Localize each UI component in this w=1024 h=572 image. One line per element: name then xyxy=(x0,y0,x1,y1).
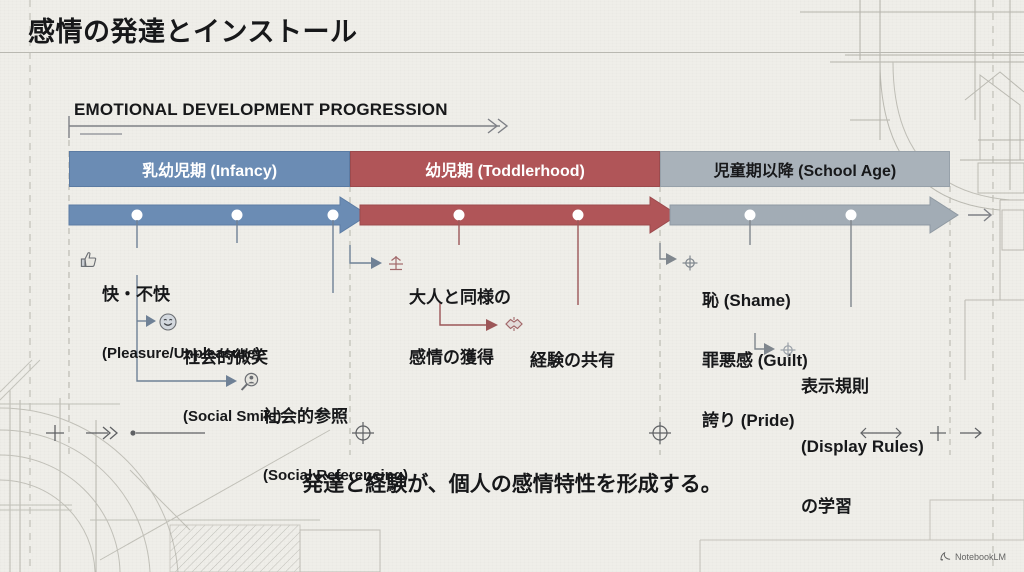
phase-header-toddlerhood[interactable]: 幼児期 (Toddlerhood) xyxy=(350,151,660,187)
crosshair-icon xyxy=(779,341,797,359)
annotation-shared-experience: 経験の共有 xyxy=(530,312,615,411)
slide-canvas: 感情の発達とインストール EMOTIONAL DEVELOPMENT PROGR… xyxy=(0,0,1024,572)
annotation-jp: 社会的微笑 xyxy=(183,348,281,369)
annotation-jp-line1: 大人と同様の xyxy=(409,288,511,309)
annotation-self-conscious-emotions: 恥 (Shame) 罪悪感 (Guilt) 誇り (Pride) xyxy=(702,252,808,470)
annotation-jp: 経験の共有 xyxy=(530,351,615,372)
annotation-line-1: 恥 (Shame) xyxy=(702,291,808,312)
handshake-icon xyxy=(503,314,525,334)
phase-label: 児童期以降 (School Age) xyxy=(714,157,897,181)
phase-label: 乳幼児期 (Infancy) xyxy=(142,157,277,181)
annotation-jp: 快・不快 xyxy=(102,285,260,306)
antenna-icon xyxy=(386,253,406,273)
annotation-line-3: の学習 xyxy=(801,497,924,518)
annotation-line-2: (Display Rules) xyxy=(801,437,924,458)
magnifier-person-icon xyxy=(239,371,261,393)
annotation-adult-like-emotions: 大人と同様の 感情の獲得 xyxy=(409,249,511,408)
annotation-display-rules: 表示規則 (Display Rules) の学習 xyxy=(801,338,924,556)
annotation-line-1: 表示規則 xyxy=(801,377,924,398)
thumbs-up-icon xyxy=(79,250,99,270)
annotation-jp: 社会的参照 xyxy=(263,407,408,428)
annotation-line-3: 誇り (Pride) xyxy=(702,411,808,432)
summary-statement: 発達と経験が、個人の感情特性を形成する。 xyxy=(0,468,1024,498)
title-divider xyxy=(0,52,1024,53)
page-title: 感情の発達とインストール xyxy=(28,10,357,49)
smiley-face-icon xyxy=(158,312,178,332)
watermark-label: NotebookLM xyxy=(955,552,1006,562)
phase-header-school-age[interactable]: 児童期以降 (School Age) xyxy=(660,151,950,187)
crosshair-icon xyxy=(681,254,699,272)
annotation-social-referencing: 社会的参照 (Social Referencing) xyxy=(263,368,408,524)
annotation-jp-line2: 感情の獲得 xyxy=(409,348,511,369)
phase-label: 幼児期 (Toddlerhood) xyxy=(425,157,585,181)
phase-header-infancy[interactable]: 乳幼児期 (Infancy) xyxy=(69,151,350,187)
notebooklm-logo-icon xyxy=(940,551,951,562)
section-progress-arrow xyxy=(60,112,520,142)
watermark: NotebookLM xyxy=(940,551,1006,562)
